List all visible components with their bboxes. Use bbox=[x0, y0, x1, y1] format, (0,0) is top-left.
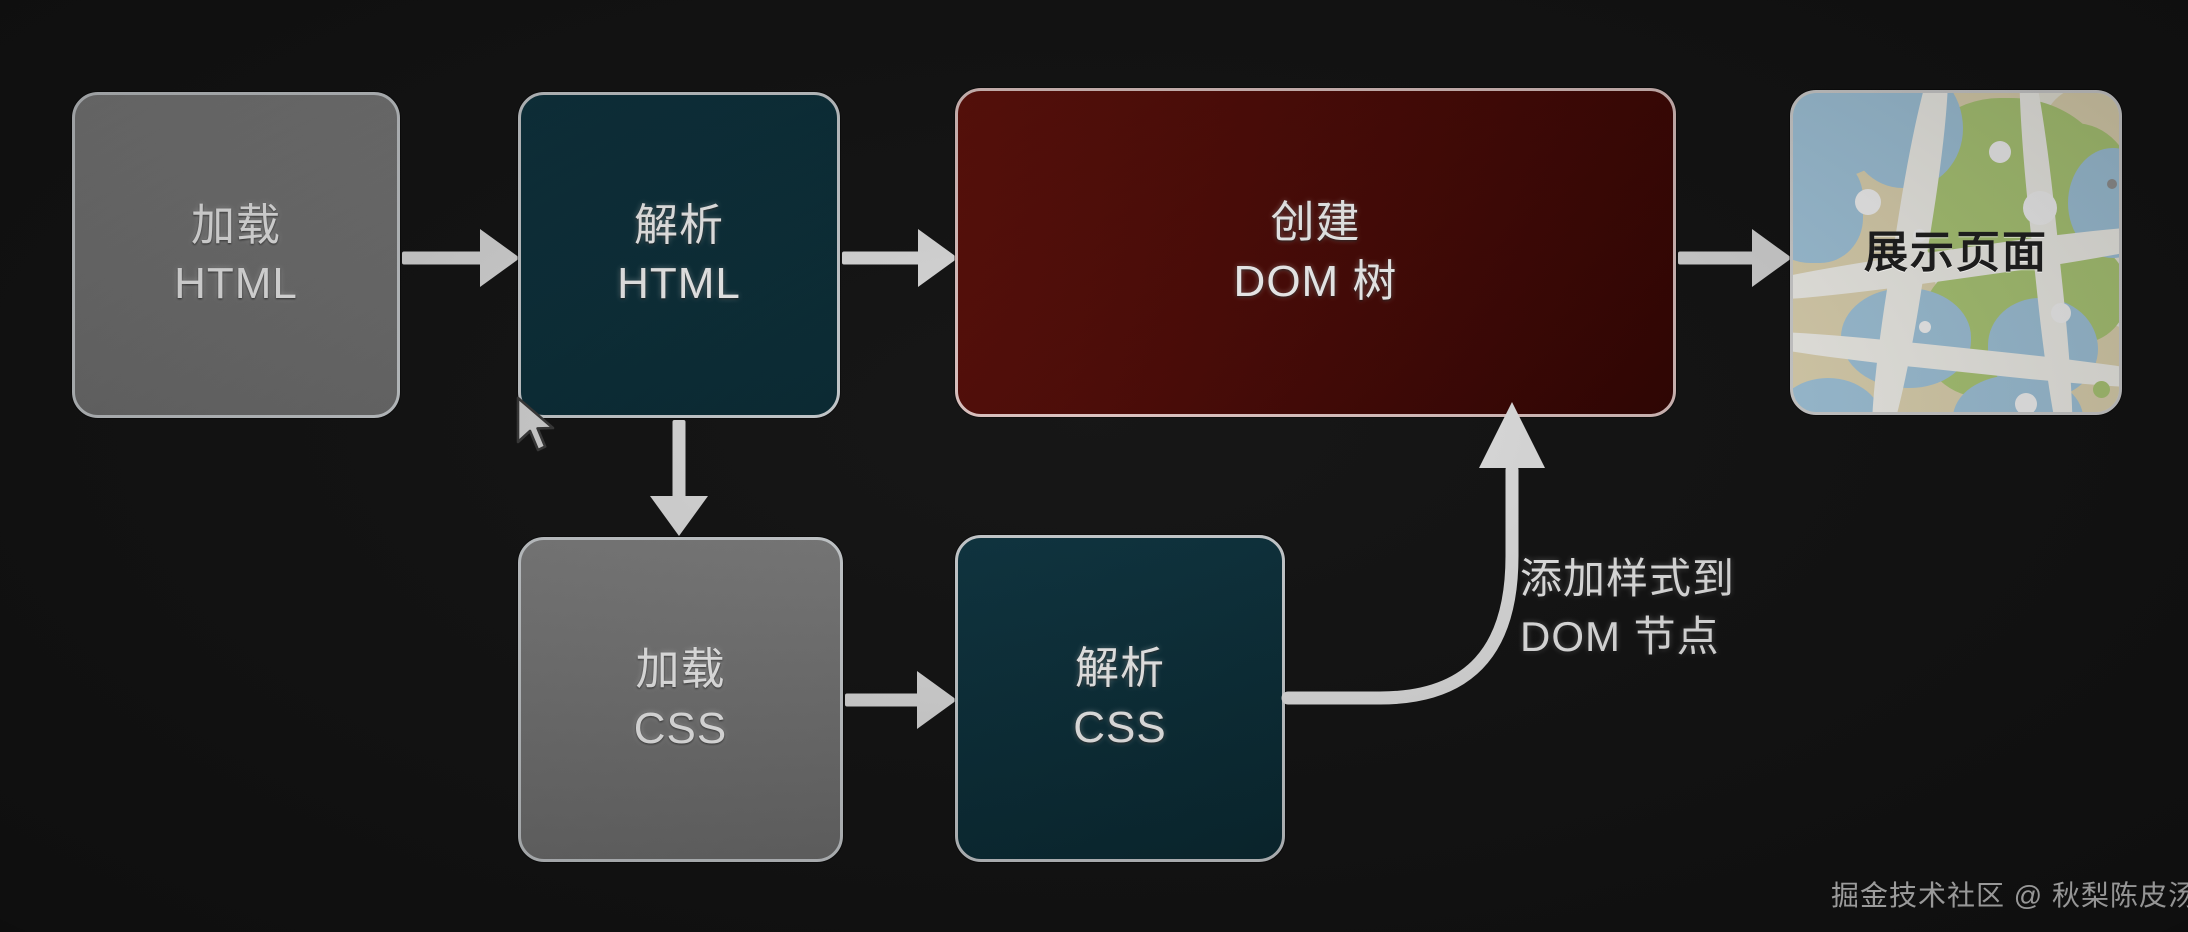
node-load-html-line1: 加载 bbox=[191, 197, 281, 255]
node-parse-html-line1: 解析 bbox=[634, 197, 724, 255]
arrow-head bbox=[650, 496, 708, 536]
node-show-page-label: 展示页面 bbox=[1864, 224, 2048, 281]
node-show-page[interactable]: 展示页面 bbox=[1790, 90, 2122, 415]
node-parse-html[interactable]: 解析 HTML bbox=[518, 92, 840, 418]
node-load-css-line2: CSS bbox=[634, 700, 727, 758]
edge-label-line1: 添加样式到 bbox=[1520, 550, 1735, 608]
diagram-canvas: 加载 HTML 解析 HTML 创建 DOM 树 bbox=[0, 0, 2188, 932]
arrow-shaft bbox=[1678, 252, 1756, 265]
watermark: 掘金技术社区 @ 秋梨陈皮汤 bbox=[1831, 874, 2188, 914]
edge-label-line2: DOM 节点 bbox=[1520, 608, 1735, 666]
edge-label-add-style-to-dom: 添加样式到 DOM 节点 bbox=[1520, 550, 1735, 666]
arrow-head bbox=[1752, 229, 1792, 287]
arrow-head bbox=[918, 229, 958, 287]
node-load-css[interactable]: 加载 CSS bbox=[518, 537, 843, 862]
node-parse-css[interactable]: 解析 CSS bbox=[955, 535, 1285, 862]
node-create-dom-tree[interactable]: 创建 DOM 树 bbox=[955, 88, 1676, 417]
node-parse-css-line2: CSS bbox=[1073, 699, 1166, 757]
node-create-dom-line2: DOM 树 bbox=[1234, 253, 1398, 311]
node-load-html[interactable]: 加载 HTML bbox=[72, 92, 400, 418]
node-parse-css-line1: 解析 bbox=[1075, 640, 1165, 698]
arrow-shaft bbox=[842, 252, 922, 265]
arrow-shaft bbox=[845, 694, 921, 707]
arrow-head bbox=[917, 671, 957, 729]
arrow-head bbox=[480, 229, 520, 287]
arrow-shaft bbox=[402, 252, 484, 265]
node-create-dom-line1: 创建 bbox=[1271, 194, 1361, 252]
node-parse-html-line2: HTML bbox=[617, 255, 741, 313]
node-load-css-line1: 加载 bbox=[636, 641, 726, 699]
node-load-html-line2: HTML bbox=[174, 255, 298, 313]
arrow-shaft bbox=[673, 420, 686, 500]
